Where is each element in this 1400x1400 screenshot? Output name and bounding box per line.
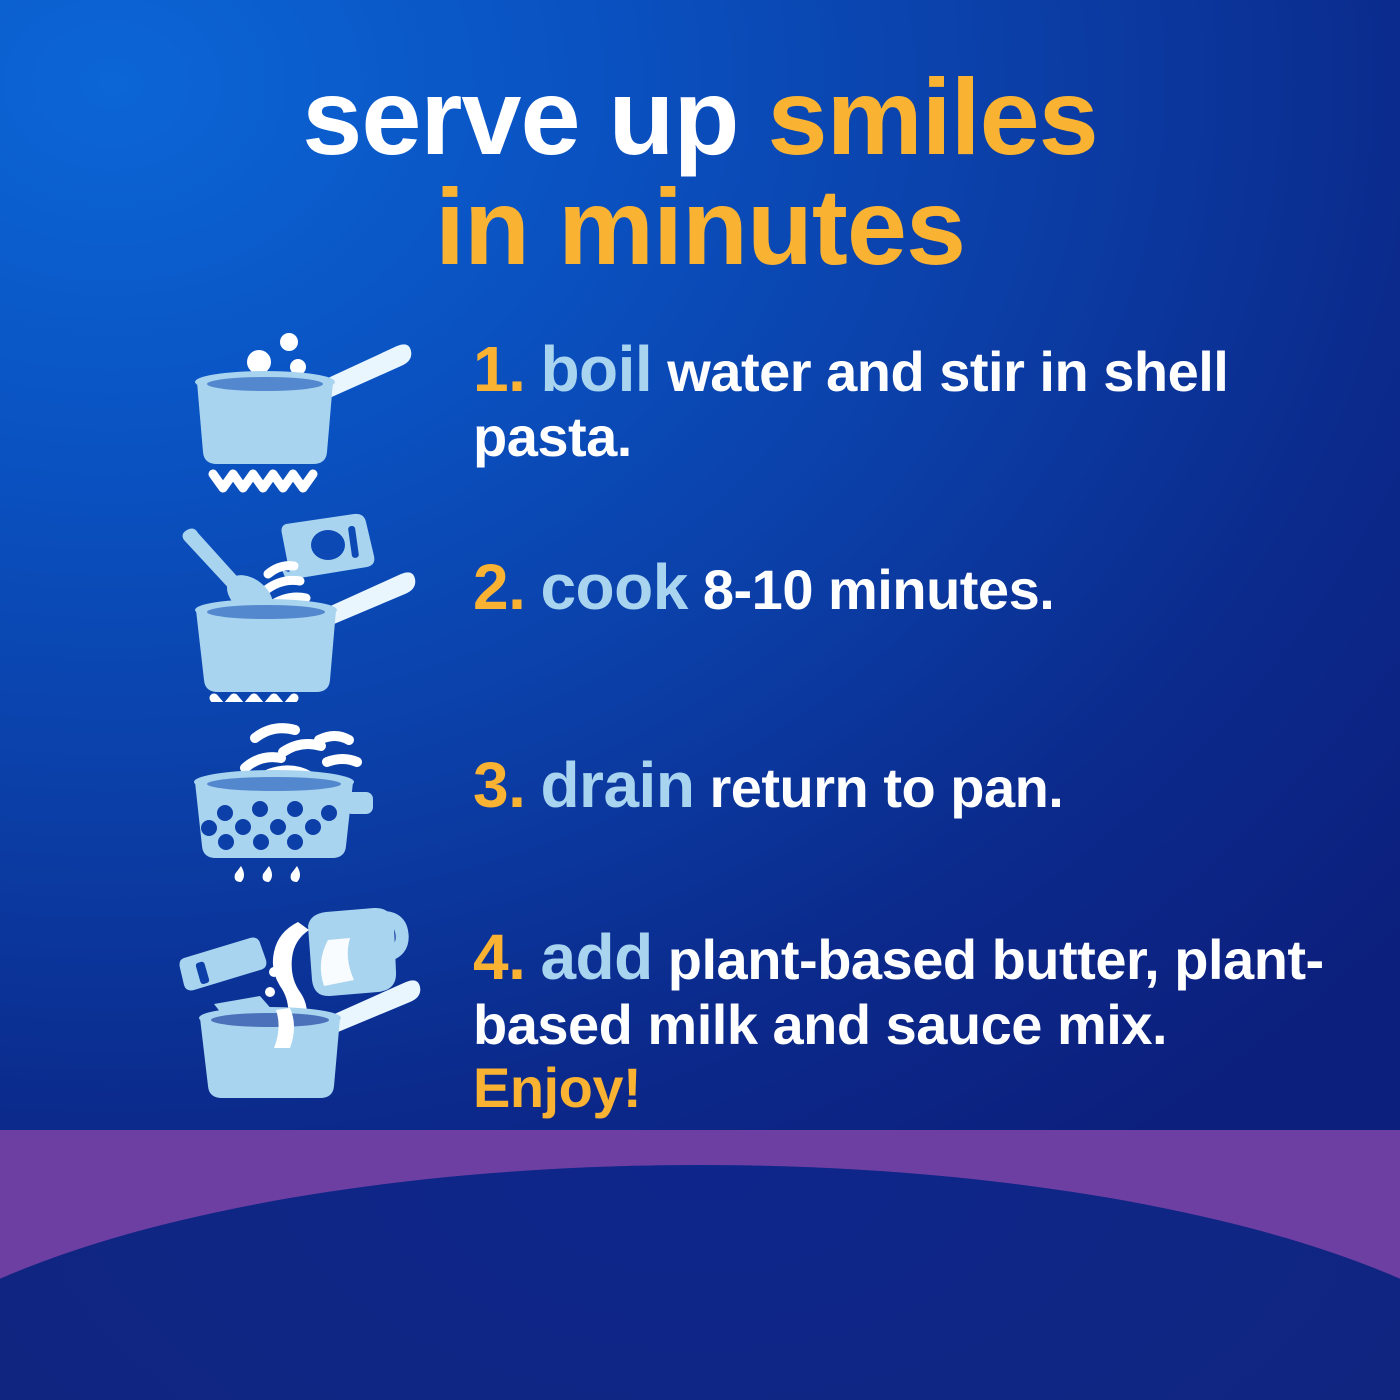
step-text-1: 1. boil water and stir in shell pasta. xyxy=(425,324,1340,468)
step-desc-2: 8-10 minutes. xyxy=(703,558,1054,621)
step-desc-3: return to pan. xyxy=(709,756,1063,819)
step-text-4: 4. add plant-based butter, plant-based m… xyxy=(425,900,1340,1119)
step-number-4: 4. xyxy=(473,921,525,993)
headline-line-1: serve up smiles xyxy=(0,62,1400,172)
step-item-2: 2. cook 8-10 minutes. xyxy=(175,512,1340,702)
headline-serve-up: serve up xyxy=(302,56,767,177)
headline-smiles: smiles xyxy=(768,56,1098,177)
step-verb-2: cook xyxy=(540,551,687,623)
page-title: serve up smiles in minutes xyxy=(0,0,1400,282)
recipe-instruction-poster: serve up smiles in minutes xyxy=(0,0,1400,1400)
step-text-2: 2. cook 8-10 minutes. xyxy=(425,512,1340,624)
step-number-1: 1. xyxy=(473,333,525,405)
step-text-3: 3. drain return to pan. xyxy=(425,710,1340,822)
step-number-2: 2. xyxy=(473,551,525,623)
step-item-1: 1. boil water and stir in shell pasta. xyxy=(175,324,1340,502)
colander-draining-icon xyxy=(175,710,425,890)
step-item-4: 4. add plant-based butter, plant-based m… xyxy=(175,900,1340,1130)
step-item-3: 3. drain return to pan. xyxy=(175,710,1340,890)
pot-stirring-pasta-icon xyxy=(175,512,425,702)
poster-content: serve up smiles in minutes xyxy=(0,0,1400,1400)
pot-pouring-milk-icon xyxy=(175,900,425,1100)
steps-list: 1. boil water and stir in shell pasta. xyxy=(0,324,1400,1130)
step-enjoy-4: Enjoy! xyxy=(473,1056,641,1119)
saucepan-boiling-icon xyxy=(175,324,425,494)
headline-line-2: in minutes xyxy=(0,172,1400,282)
step-verb-3: drain xyxy=(540,749,694,821)
step-verb-4: add xyxy=(540,921,652,993)
step-verb-1: boil xyxy=(540,333,652,405)
step-number-3: 3. xyxy=(473,749,525,821)
